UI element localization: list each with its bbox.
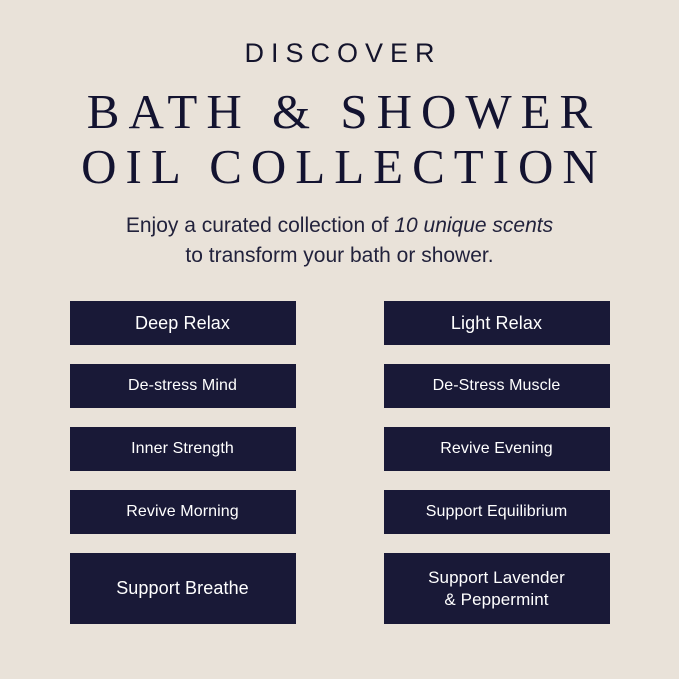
subtitle-emphasis: 10 unique scents bbox=[394, 214, 553, 237]
scent-button-support-equilibrium[interactable]: Support Equilibrium bbox=[384, 490, 610, 534]
scent-button-revive-morning[interactable]: Revive Morning bbox=[70, 490, 296, 534]
page-title-line-2: OIL COLLECTION bbox=[9, 140, 679, 195]
subtitle-line-2: to transform your bath or shower. bbox=[0, 241, 679, 271]
bath-shower-oil-collection-poster: DISCOVER BATH & SHOWER OIL COLLECTION En… bbox=[0, 0, 679, 679]
scent-button-inner-strength[interactable]: Inner Strength bbox=[70, 427, 296, 471]
subtitle-line-1: Enjoy a curated collection of 10 unique … bbox=[0, 211, 679, 241]
scent-grid: Deep Relax De-stress Mind Inner Strength… bbox=[0, 301, 679, 624]
scent-column-left: Deep Relax De-stress Mind Inner Strength… bbox=[70, 301, 296, 624]
scent-button-support-lavender-peppermint[interactable]: Support Lavender & Peppermint bbox=[384, 553, 610, 624]
scent-columns: Deep Relax De-stress Mind Inner Strength… bbox=[0, 301, 679, 624]
eyebrow-text: DISCOVER bbox=[7, 40, 679, 67]
scent-button-light-relax[interactable]: Light Relax bbox=[384, 301, 610, 345]
scent-label-line-2: & Peppermint bbox=[428, 589, 565, 610]
subtitle: Enjoy a curated collection of 10 unique … bbox=[0, 211, 679, 271]
scent-button-de-stress-muscle[interactable]: De-Stress Muscle bbox=[384, 364, 610, 408]
page-title: BATH & SHOWER OIL COLLECTION bbox=[0, 85, 679, 195]
scent-label-wrap: Support Lavender & Peppermint bbox=[428, 567, 565, 610]
scent-button-revive-evening[interactable]: Revive Evening bbox=[384, 427, 610, 471]
page-title-line-1: BATH & SHOWER bbox=[9, 85, 679, 140]
subtitle-lead: Enjoy a curated collection of bbox=[126, 214, 395, 237]
scent-button-support-breathe[interactable]: Support Breathe bbox=[70, 553, 296, 624]
scent-button-de-stress-mind[interactable]: De-stress Mind bbox=[70, 364, 296, 408]
header: DISCOVER BATH & SHOWER OIL COLLECTION En… bbox=[0, 0, 679, 270]
scent-label-line-1: Support Lavender bbox=[428, 568, 565, 587]
scent-button-deep-relax[interactable]: Deep Relax bbox=[70, 301, 296, 345]
scent-column-right: Light Relax De-Stress Muscle Revive Even… bbox=[384, 301, 610, 624]
